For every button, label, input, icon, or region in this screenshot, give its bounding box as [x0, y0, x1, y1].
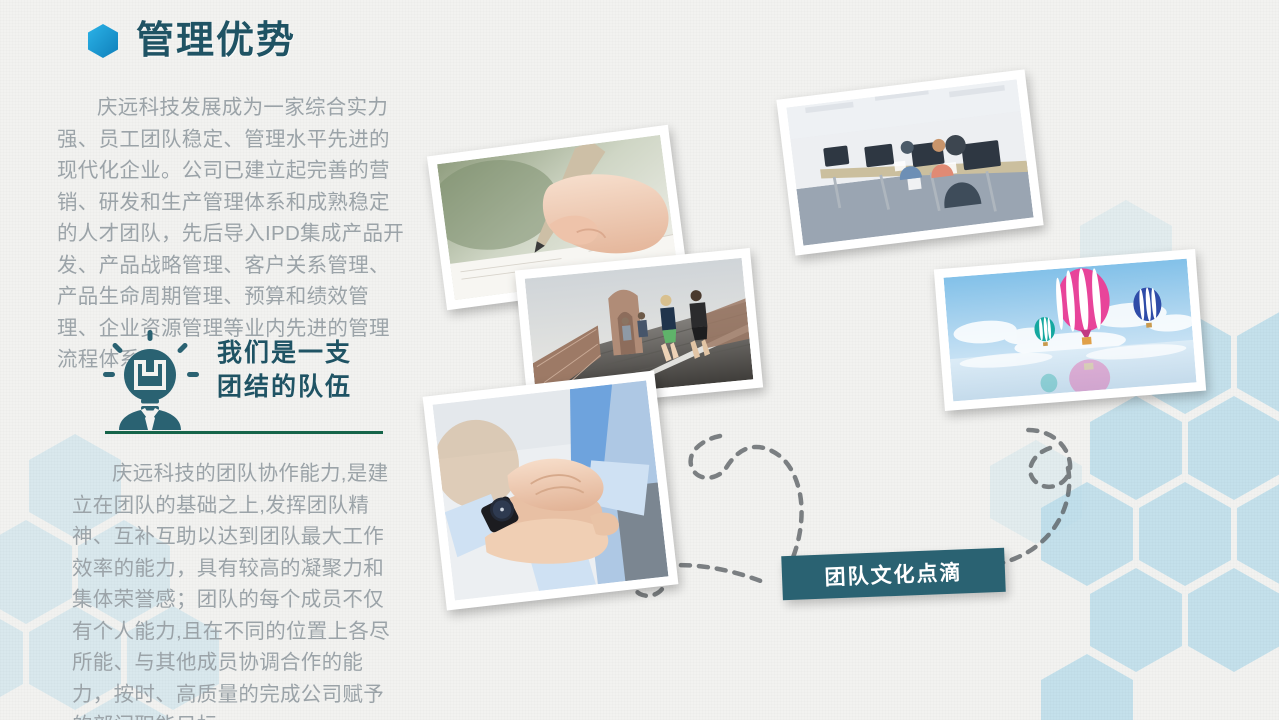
page-title: 管理优势: [136, 22, 296, 60]
team-subheading-line-2: 团结的队伍: [217, 370, 352, 404]
photo-office-image: [786, 79, 1033, 245]
team-subheading-line-1: 我们是一支: [217, 336, 352, 370]
team-statement-block: 我们是一支 团结的队伍: [103, 330, 393, 438]
photo-hands[interactable]: [423, 371, 679, 611]
team-culture-ribbon[interactable]: 团队文化点滴: [781, 548, 1006, 601]
team-subheading: 我们是一支 团结的队伍: [217, 336, 352, 404]
team-underline-rule: [105, 431, 383, 434]
photo-office[interactable]: [776, 69, 1043, 255]
team-culture-ribbon-label: 团队文化点滴: [824, 556, 963, 591]
page-header: 管理优势: [88, 22, 296, 60]
photo-hands-image: [433, 380, 669, 600]
teamwork-paragraph: 庆远科技的团队协作能力,是建立在团队的基础之上,发挥团队精神、互补互助以达到团队…: [72, 458, 402, 720]
photo-balloons-image: [944, 259, 1197, 402]
hexagon-bullet-icon: [88, 24, 118, 58]
lightbulb-head-person-icon: [103, 330, 199, 430]
slide-canvas: 管理优势 庆远科技发展成为一家综合实力强、员工团队稳定、管理水平先进的现代化企业…: [0, 0, 1279, 720]
photo-balloons[interactable]: [934, 249, 1206, 411]
